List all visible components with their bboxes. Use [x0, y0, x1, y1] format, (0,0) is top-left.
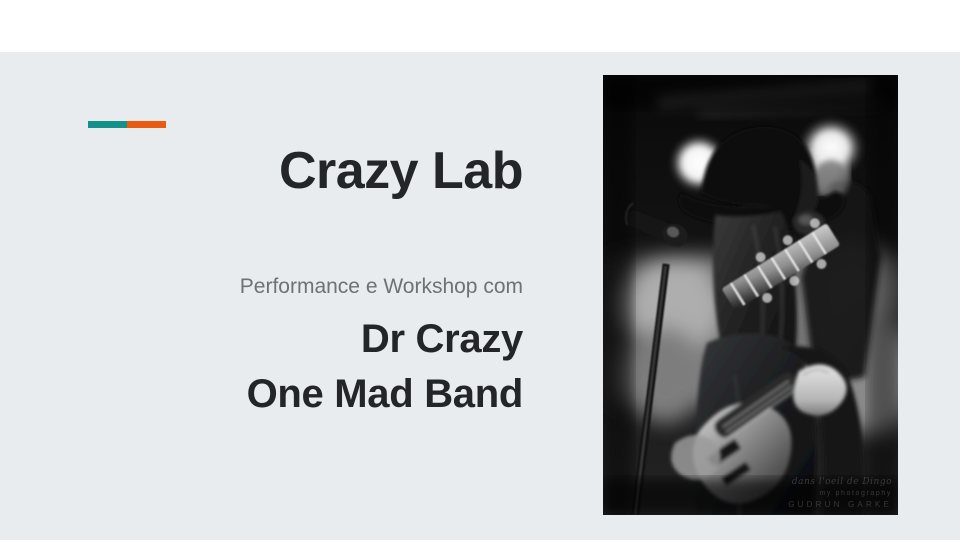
- artist-name-line-2: One Mad Band: [60, 367, 523, 422]
- subtitle-kicker: Performance e Workshop com: [60, 202, 523, 300]
- artist-name-line-1: Dr Crazy: [60, 300, 523, 367]
- accent-segment-orange: [127, 121, 166, 128]
- performance-photo-image: [603, 75, 898, 515]
- performance-photo: dans l'oeil de Dingo my photography GUDR…: [603, 75, 898, 515]
- page-title: Crazy Lab: [60, 140, 523, 202]
- title-text-block: Crazy Lab Performance e Workshop com Dr …: [60, 140, 523, 422]
- presentation-slide: Crazy Lab Performance e Workshop com Dr …: [0, 0, 960, 540]
- accent-segment-teal: [88, 121, 127, 128]
- accent-rule: [88, 121, 166, 128]
